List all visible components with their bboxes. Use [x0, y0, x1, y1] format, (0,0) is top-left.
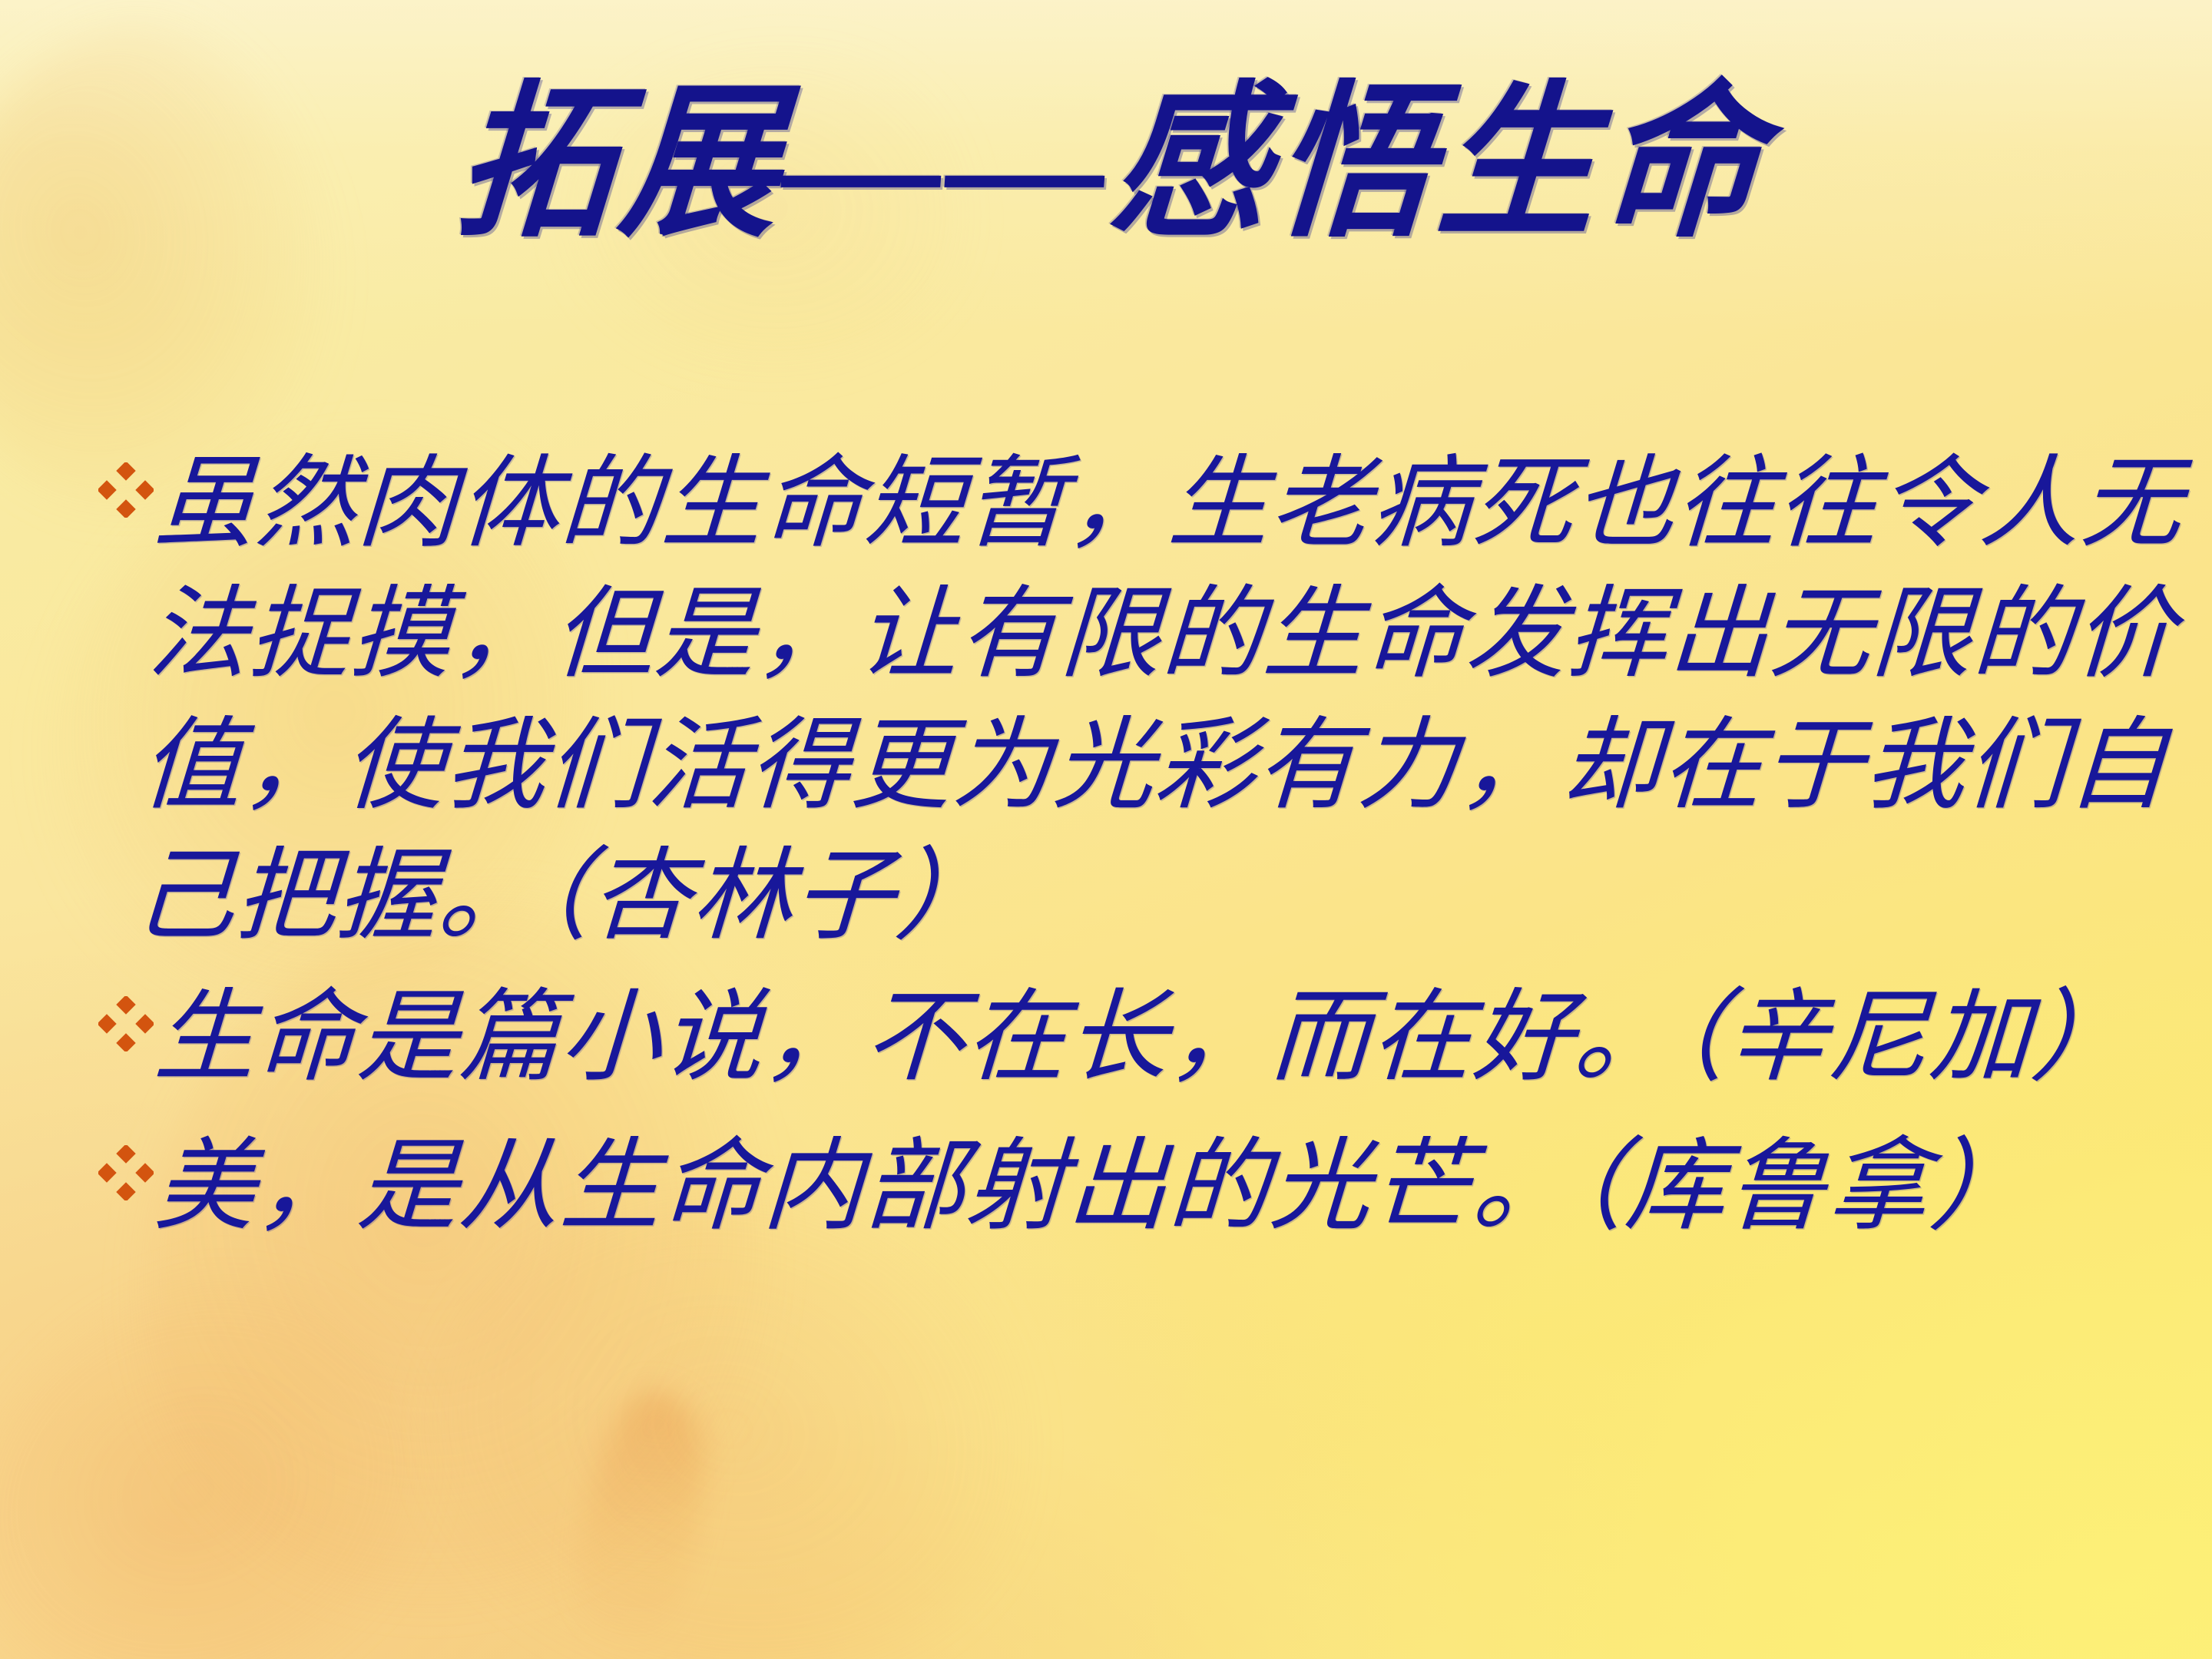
bullet-list: 虽然肉体的生命短暂，生老病死也往往令人无法捉摸，但是，让有限的生命发挥出无限的价…: [98, 439, 2212, 1264]
list-item-label: 生命是篇小说，不在长，而在好。（辛尼加）: [151, 973, 2212, 1104]
list-item: 美，是从生命内部射出的光芒。（库鲁拿）: [98, 1122, 2212, 1253]
diamond-cluster-bullet-icon: [98, 1122, 155, 1211]
list-item: 生命是篇小说，不在长，而在好。（辛尼加）: [98, 973, 2212, 1104]
diamond-cluster-bullet-icon: [98, 439, 155, 528]
list-item-label: 虽然肉体的生命短暂，生老病死也往往令人无法捉摸，但是，让有限的生命发挥出无限的价…: [131, 439, 2212, 962]
list-item: 虽然肉体的生命短暂，生老病死也往往令人无法捉摸，但是，让有限的生命发挥出无限的价…: [98, 439, 2212, 962]
page-title: 拓展——感悟生命: [452, 81, 1772, 248]
slide-content: 拓展——感悟生命 虽然肉体的生命短暂，生老病死也往往令人无法捉摸，但是，让有限的…: [0, 0, 2212, 1659]
list-item-label: 美，是从生命内部射出的光芒。（库鲁拿）: [151, 1122, 2212, 1253]
presentation-slide: 拓展——感悟生命 虽然肉体的生命短暂，生老病死也往往令人无法捉摸，但是，让有限的…: [0, 0, 2212, 1659]
slide-title-row: 拓展——感悟生命: [0, 91, 2212, 248]
diamond-cluster-bullet-icon: [98, 973, 155, 1062]
